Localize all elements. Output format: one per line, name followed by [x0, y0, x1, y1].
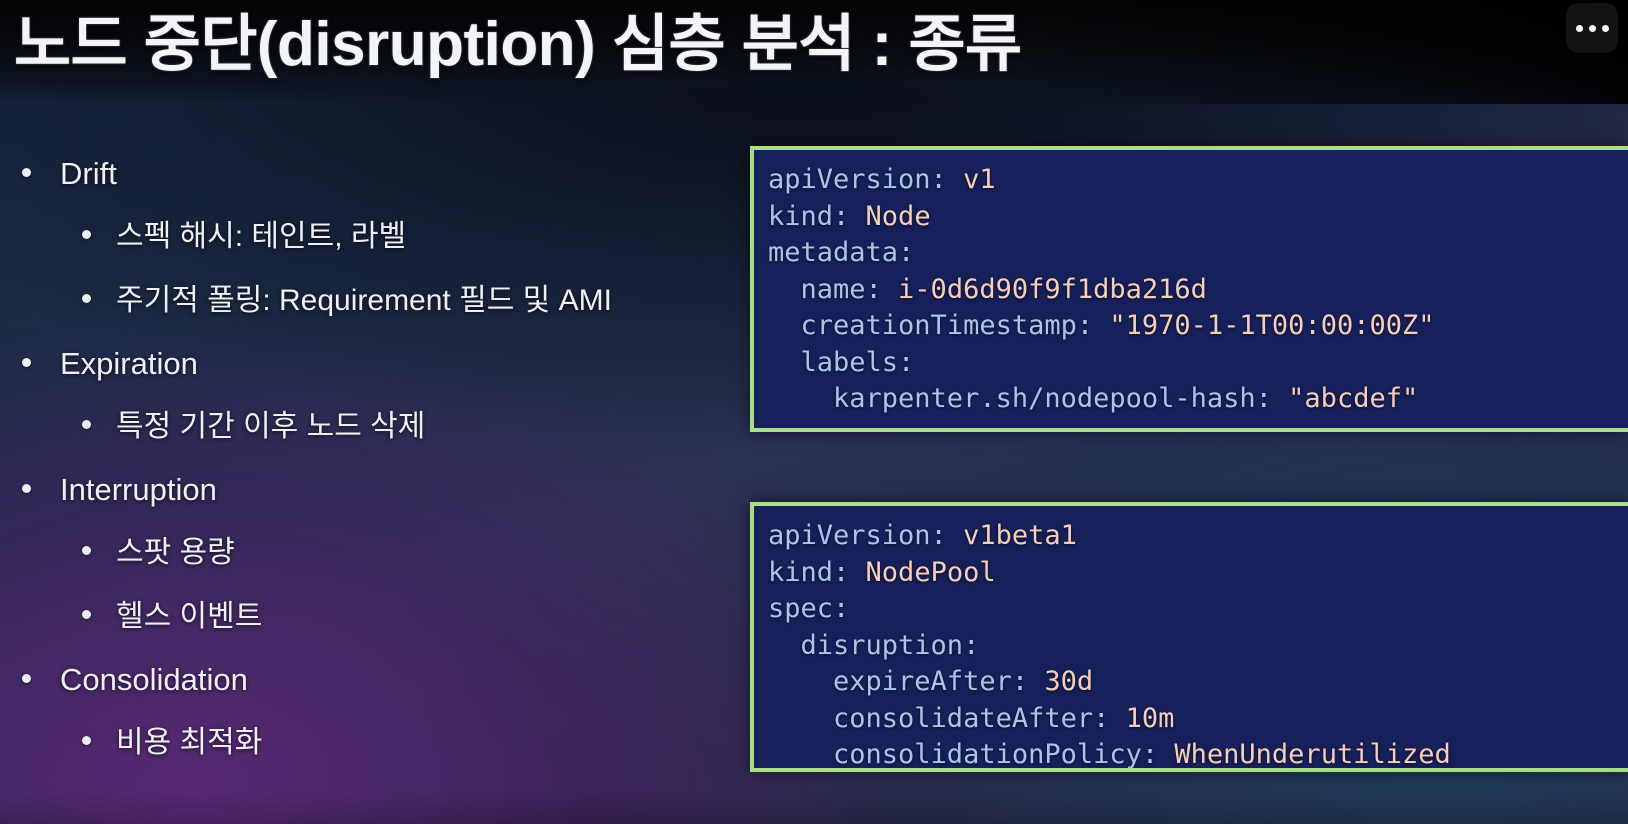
code-key: labels:	[768, 347, 914, 378]
code-key: disruption:	[768, 630, 979, 661]
code-line: consolidateAfter: 10m	[768, 701, 1628, 738]
kebab-dot-icon	[1589, 25, 1596, 32]
bullet-dot-icon	[22, 358, 31, 367]
page-title: 노드 중단(disruption) 심층 분석 : 종류	[14, 6, 1022, 84]
list-item-label: Consolidation	[60, 652, 248, 708]
code-line: apiVersion: v1beta1	[768, 518, 1628, 555]
list-item-label: 스펙 해시: 테인트, 라벨	[116, 208, 406, 266]
list-item-label: 특정 기간 이후 노드 삭제	[116, 398, 425, 456]
code-block-nodepool-manifest: apiVersion: v1beta1kind: NodePoolspec: d…	[750, 502, 1628, 772]
code-value: v1beta1	[963, 520, 1077, 551]
code-line: consolidationPolicy: WhenUnderutilized	[768, 737, 1628, 772]
bullet-dot-icon	[82, 610, 91, 619]
code-key: apiVersion:	[768, 164, 963, 195]
code-line: metadata:	[768, 235, 1628, 272]
code-line: labels:	[768, 345, 1628, 382]
bullet-dot-icon	[82, 420, 91, 429]
bullet-dot-icon	[82, 230, 91, 239]
list-item: 주기적 폴링: Requirement 필드 및 AMI	[0, 272, 740, 330]
code-key: kind:	[768, 557, 866, 588]
code-key: spec:	[768, 593, 849, 624]
code-line: name: i-0d6d90f9f1dba216d	[768, 272, 1628, 309]
bullet-dot-icon	[22, 484, 31, 493]
list-item-label: 헬스 이벤트	[116, 588, 262, 646]
bullet-dot-icon	[22, 168, 31, 177]
code-key: apiVersion:	[768, 520, 963, 551]
list-item-label: Expiration	[60, 336, 198, 392]
kebab-dot-icon	[1576, 25, 1583, 32]
code-key: expireAfter:	[768, 666, 1044, 697]
list-item: 비용 최적화	[0, 714, 740, 772]
code-line: kind: NodePool	[768, 555, 1628, 592]
code-value: 30d	[1044, 666, 1093, 697]
list-item-label: 비용 최적화	[116, 714, 262, 772]
list-item: Expiration	[0, 336, 740, 392]
code-line: apiVersion: v1	[768, 162, 1628, 199]
code-value: Node	[866, 201, 931, 232]
list-item: 스펙 해시: 테인트, 라벨	[0, 208, 740, 266]
list-item: 헬스 이벤트	[0, 588, 740, 646]
code-line: kind: Node	[768, 199, 1628, 236]
code-value: NodePool	[866, 557, 996, 588]
code-value: i-0d6d90f9f1dba216d	[898, 274, 1207, 305]
code-value: "abcdef"	[1288, 383, 1418, 414]
code-key: consolidationPolicy:	[768, 739, 1174, 770]
list-item: Interruption	[0, 462, 740, 518]
list-item-label: 주기적 폴링: Requirement 필드 및 AMI	[116, 272, 612, 330]
code-value: v1	[963, 164, 996, 195]
list-item: 특정 기간 이후 노드 삭제	[0, 398, 740, 456]
code-value: "1970-1-1T00:00:00Z"	[1109, 310, 1434, 341]
overflow-menu-button[interactable]	[1566, 3, 1618, 53]
code-key: creationTimestamp:	[768, 310, 1109, 341]
code-value: 10m	[1126, 703, 1175, 734]
code-key: karpenter.sh/nodepool-hash:	[768, 383, 1288, 414]
bullet-dot-icon	[82, 546, 91, 555]
list-item: 스팟 용량	[0, 524, 740, 582]
code-line: disruption:	[768, 628, 1628, 665]
list-item-label: Drift	[60, 146, 117, 202]
bullet-dot-icon	[82, 294, 91, 303]
bullet-dot-icon	[22, 674, 31, 683]
code-line: creationTimestamp: "1970-1-1T00:00:00Z"	[768, 308, 1628, 345]
list-item-label: Interruption	[60, 462, 217, 518]
kebab-dot-icon	[1602, 25, 1609, 32]
code-key: metadata:	[768, 237, 914, 268]
code-key: name:	[768, 274, 898, 305]
bullet-dot-icon	[82, 736, 91, 745]
code-key: consolidateAfter:	[768, 703, 1126, 734]
code-block-node-manifest: apiVersion: v1kind: Nodemetadata: name: …	[750, 146, 1628, 432]
presentation-slide: 노드 중단(disruption) 심층 분석 : 종류 Drift스펙 해시:…	[0, 0, 1628, 824]
list-item: Consolidation	[0, 652, 740, 708]
code-line: expireAfter: 30d	[768, 664, 1628, 701]
code-value: WhenUnderutilized	[1174, 739, 1450, 770]
list-item-label: 스팟 용량	[116, 524, 235, 582]
code-line: spec:	[768, 591, 1628, 628]
bullet-list: Drift스펙 해시: 테인트, 라벨주기적 폴링: Requirement 필…	[0, 142, 740, 778]
list-item: Drift	[0, 146, 740, 202]
code-line: karpenter.sh/nodepool-hash: "abcdef"	[768, 381, 1628, 418]
bottom-vignette	[0, 790, 1628, 824]
code-key: kind:	[768, 201, 866, 232]
